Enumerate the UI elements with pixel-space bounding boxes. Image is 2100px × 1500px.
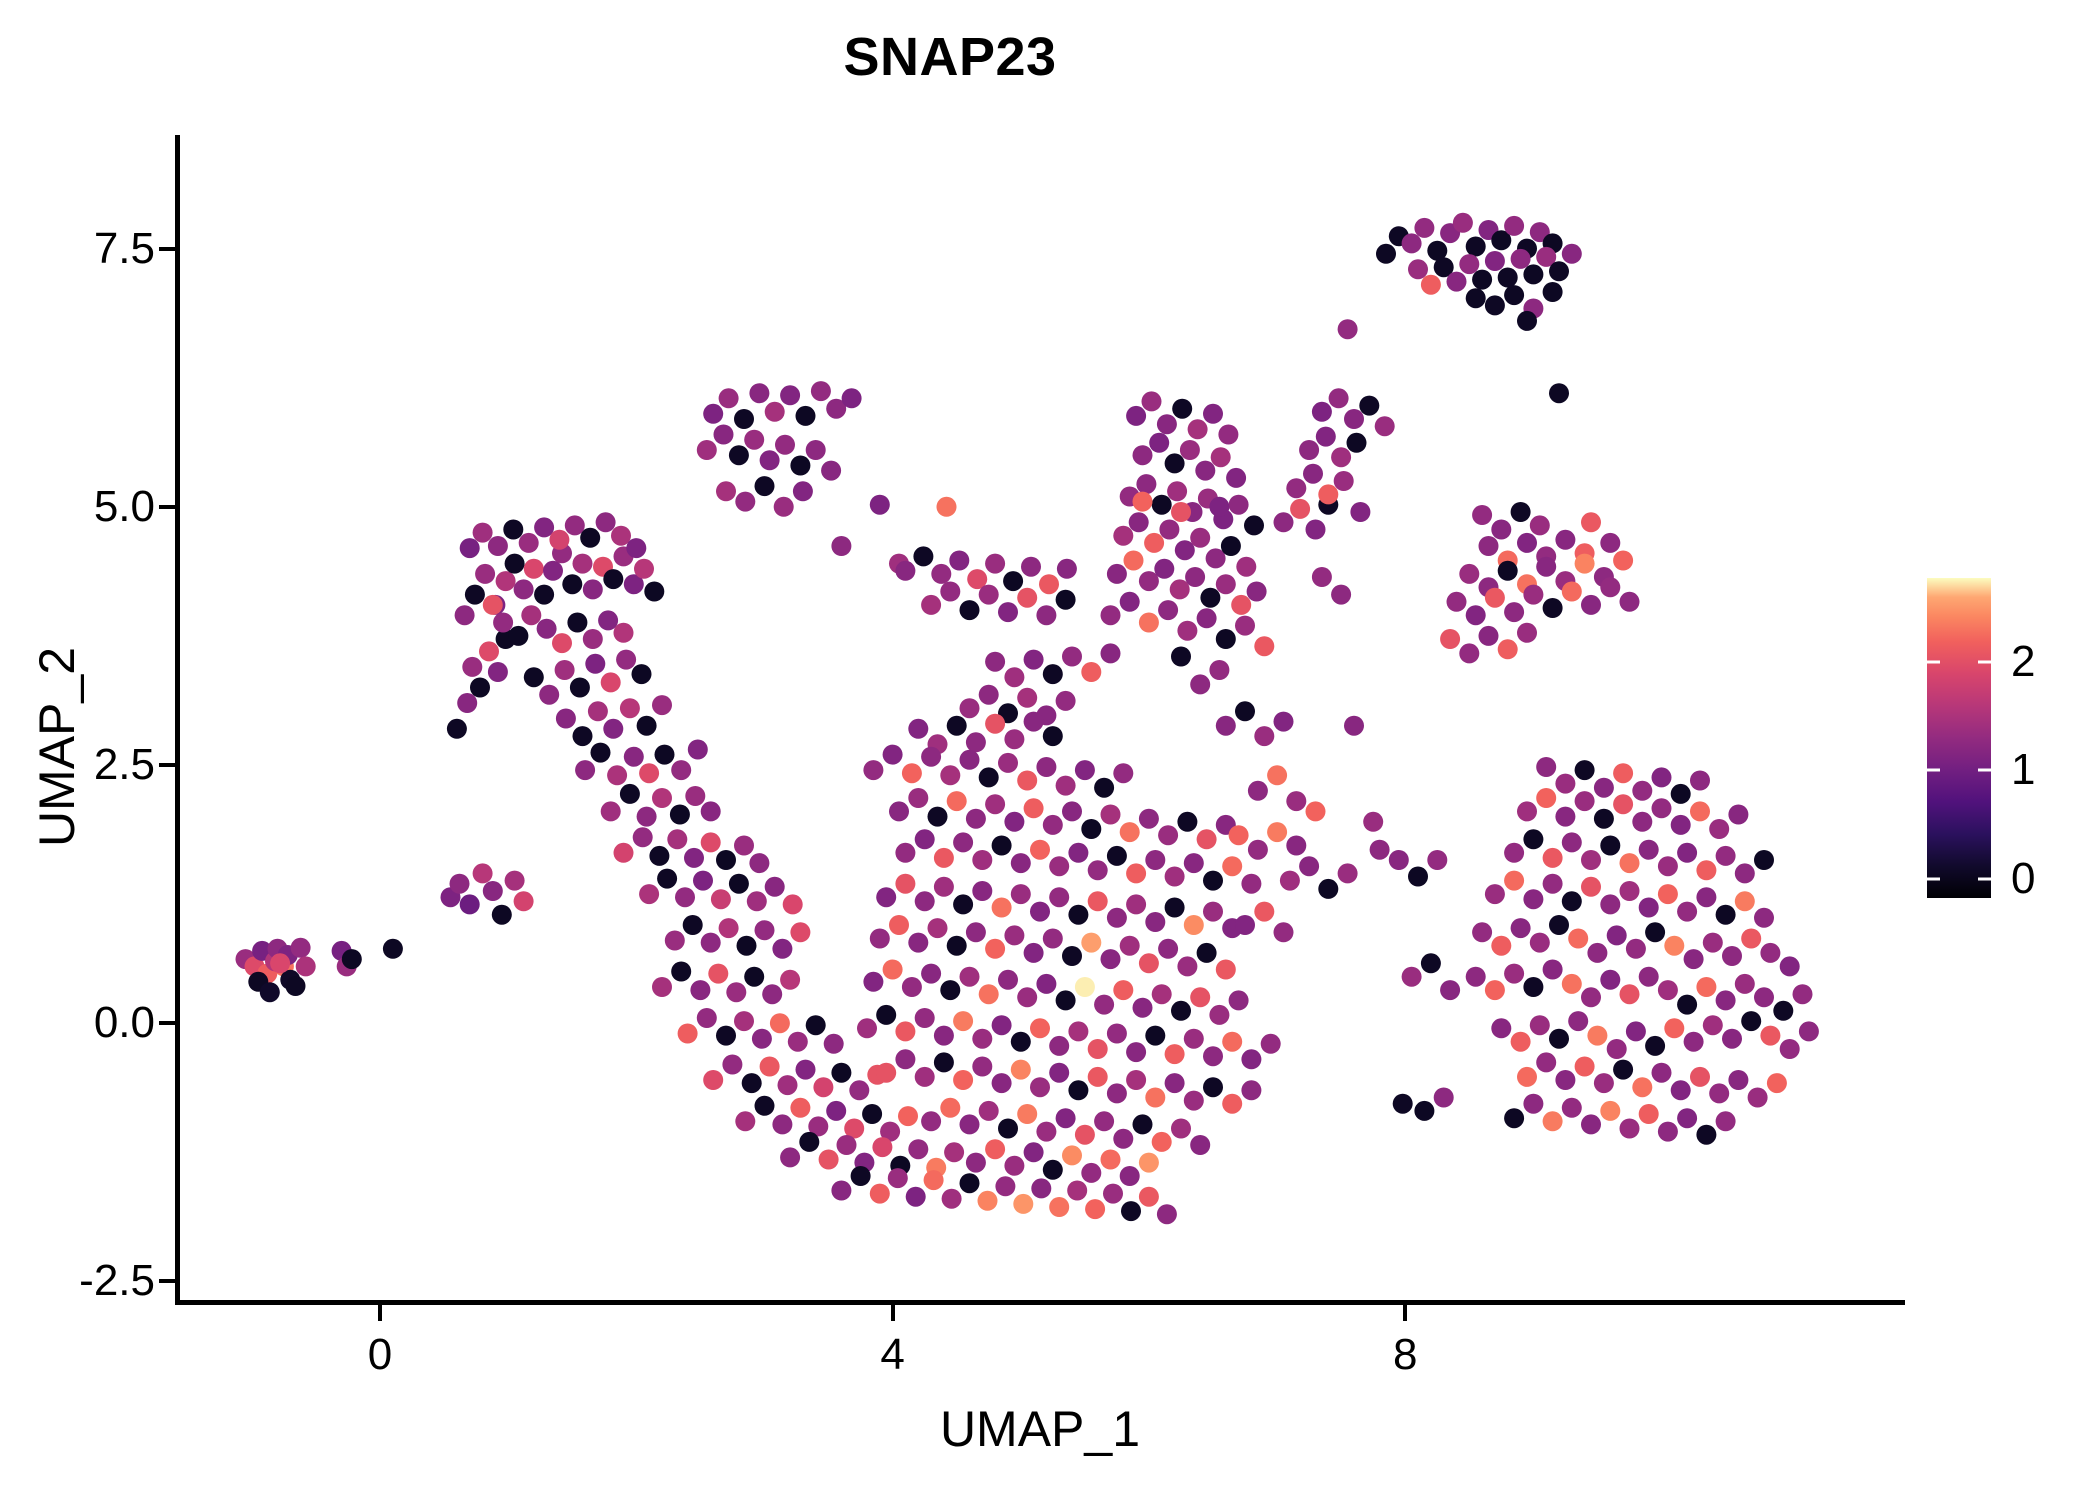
y-tick-mark [159, 505, 175, 509]
x-tick-label: 0 [368, 1330, 392, 1380]
colorbar-tick-label: 1 [2011, 745, 2035, 795]
y-tick-label: 7.5 [94, 224, 155, 274]
x-axis-title: UMAP_1 [175, 1400, 1905, 1458]
colorbar-tick-label: 2 [2011, 637, 2035, 687]
scatter-points-layer [175, 135, 1905, 1302]
page-title: SNAP23 [0, 26, 1900, 88]
x-tick-label: 4 [880, 1330, 904, 1380]
colorbar-tick-mark [1927, 769, 1940, 772]
x-axis-line [175, 1300, 1905, 1305]
x-tick-mark [891, 1305, 895, 1321]
y-tick-label: 0.0 [94, 998, 155, 1048]
colorbar-gradient [1927, 578, 1991, 898]
y-tick-label: 2.5 [94, 740, 155, 790]
x-tick-mark [1403, 1305, 1407, 1321]
colorbar-tick-mark [1927, 661, 1940, 664]
colorbar-tick-mark [1978, 877, 1991, 880]
colorbar-tick-mark [1978, 769, 1991, 772]
y-axis-line [175, 135, 180, 1305]
y-tick-mark [159, 763, 175, 767]
umap-feature-plot: SNAP23 -2.50.02.55.07.5 048 UMAP_1 UMAP_… [0, 0, 2100, 1500]
colorbar-legend [1927, 578, 1991, 898]
colorbar-tick-label: 0 [2011, 854, 2035, 904]
y-tick-mark [159, 1021, 175, 1025]
x-tick-mark [378, 1305, 382, 1321]
y-tick-mark [159, 247, 175, 251]
colorbar-tick-mark [1978, 661, 1991, 664]
plot-panel [175, 135, 1905, 1302]
x-tick-label: 8 [1393, 1330, 1417, 1380]
y-tick-label: -2.5 [79, 1256, 155, 1306]
y-axis-title: UMAP_2 [28, 162, 86, 1332]
y-tick-label: 5.0 [94, 482, 155, 532]
colorbar-tick-mark [1927, 877, 1940, 880]
y-tick-mark [159, 1279, 175, 1283]
